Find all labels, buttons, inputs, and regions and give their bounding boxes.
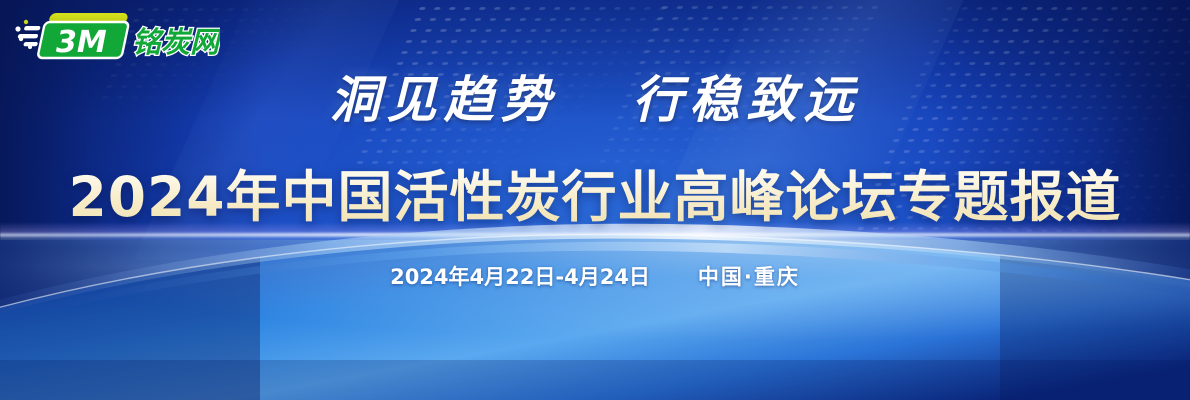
- event-location: 中国·重庆: [698, 261, 800, 291]
- slogan-right: 行稳致远: [632, 70, 860, 129]
- event-meta: 2024年4月22日-4月24日 中国·重庆: [0, 261, 1190, 291]
- site-logo[interactable]: 3M 铭炭网: [8, 8, 220, 66]
- calligraphy-slogan: 洞见趋势 行稳致远: [0, 74, 1190, 127]
- dotted-world-globe: [0, 220, 1190, 400]
- logo-mark-text: 3M: [56, 25, 107, 60]
- speed-lines-icon: [15, 20, 40, 49]
- conference-banner: 3M 铭炭网 洞见趋势 行稳致远 2024年中国活性炭行业高峰论坛专题报道 20…: [0, 0, 1190, 400]
- slogan-left: 洞见趋势: [330, 70, 558, 129]
- page-title: 2024年中国活性炭行业高峰论坛专题报道: [0, 152, 1190, 232]
- logo-brand-text: 铭炭网: [132, 25, 220, 59]
- event-date: 2024年4月22日-4月24日: [390, 261, 650, 291]
